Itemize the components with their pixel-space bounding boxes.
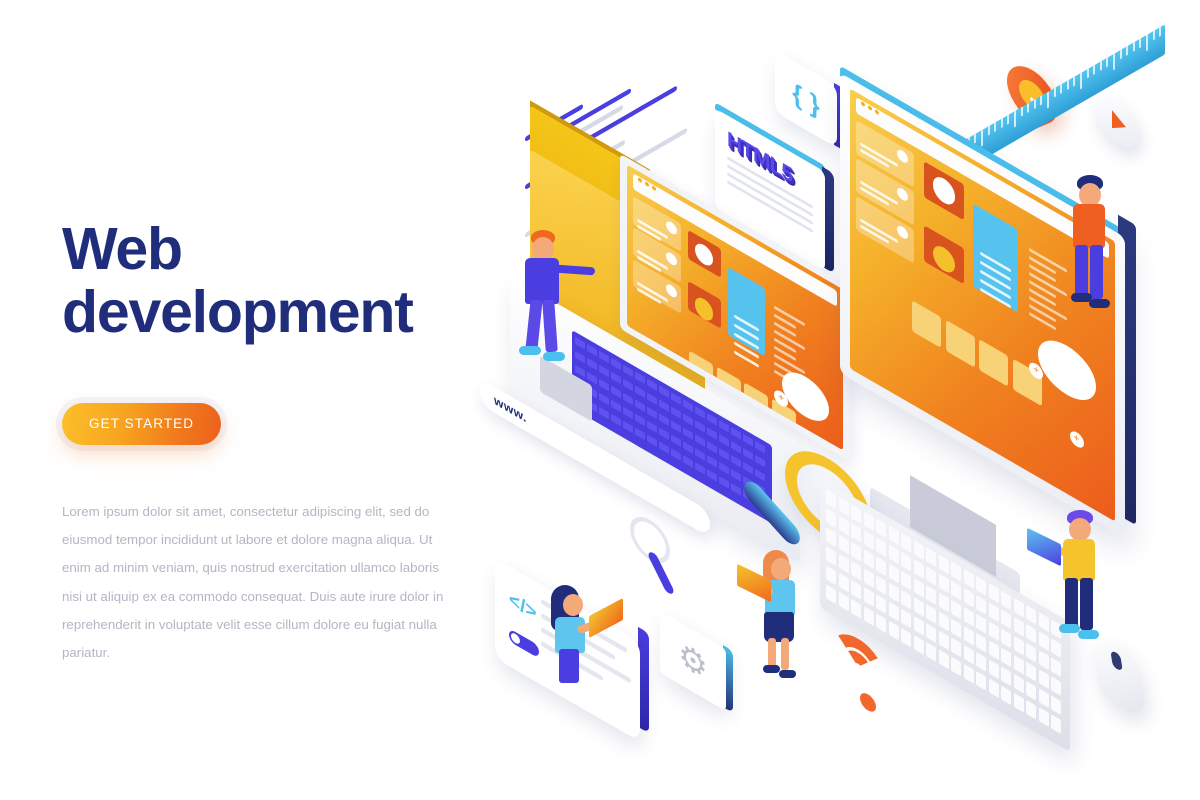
play-button-icon[interactable] <box>1095 87 1139 156</box>
head <box>1069 518 1091 541</box>
search-magnifier-icon <box>630 508 670 571</box>
leg <box>781 638 789 670</box>
play-triangle <box>1112 110 1126 136</box>
leg <box>1075 245 1088 297</box>
gear-icon: ⚙ <box>660 611 726 711</box>
person-woman-with-laptop-dark-hair <box>545 585 600 695</box>
leg <box>1065 578 1078 628</box>
leg <box>542 300 558 353</box>
head <box>563 594 583 616</box>
headline-line-2: development <box>62 279 413 345</box>
person-man-in-blue-suit <box>515 230 585 360</box>
person-man-with-ruler <box>1065 175 1125 310</box>
torso <box>525 258 559 304</box>
torso <box>1073 204 1105 248</box>
headline-line-1: Web <box>62 216 182 282</box>
head <box>771 558 791 580</box>
settings-card: ⚙ <box>660 611 726 711</box>
person-woman-with-laptop-red-hair <box>755 550 810 680</box>
toggle-switch[interactable] <box>509 628 539 658</box>
leg <box>525 300 542 351</box>
person-boy-with-laptop <box>1055 510 1111 640</box>
skirt <box>559 649 579 683</box>
leg <box>1080 578 1093 630</box>
shoe <box>543 352 565 361</box>
web-development-illustration: { } HTML5 ++ ++ www. <box>470 30 1200 770</box>
computer-mouse[interactable] <box>1090 633 1148 719</box>
shoe <box>1089 299 1110 308</box>
shoe <box>519 346 541 355</box>
page-title: Web development <box>62 218 482 343</box>
mouse-scroll-wheel <box>1110 650 1123 671</box>
leg <box>768 638 776 668</box>
arm <box>555 265 595 276</box>
held-laptop <box>1027 528 1061 567</box>
chat-bubble-tail <box>504 686 529 711</box>
shoe <box>779 670 796 678</box>
leg <box>1090 245 1103 299</box>
get-started-button[interactable]: GET STARTED <box>62 403 221 445</box>
shoe <box>763 665 780 673</box>
torso <box>1063 539 1095 581</box>
torso <box>555 617 585 653</box>
shoe <box>1078 630 1099 639</box>
code-slash-icon: </> <box>509 588 536 626</box>
hero-description: Lorem ipsum dolor sit amet, consectetur … <box>62 498 462 667</box>
hero-copy: Web development GET STARTED Lorem ipsum … <box>62 218 482 667</box>
shoe <box>1059 624 1080 633</box>
